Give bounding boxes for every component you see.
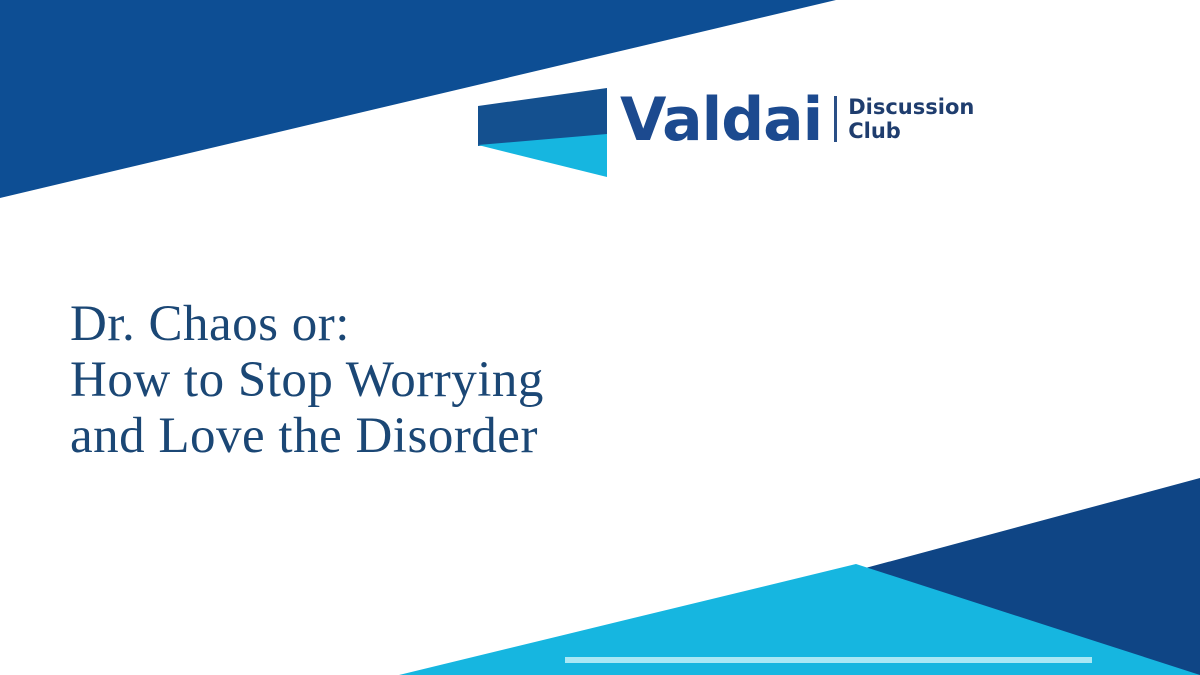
title-line-2: How to Stop Worrying <box>70 352 890 408</box>
logo-subtitle-line-2: Club <box>848 119 901 143</box>
title-line-3: and Love the Disorder <box>70 408 890 464</box>
bottom-accent-rule <box>565 657 1092 663</box>
valdai-logo[interactable]: Valdai Discussion Club <box>478 84 974 184</box>
valdai-chevron-mark-icon <box>478 84 616 180</box>
bottom-right-navy-wedge <box>468 478 1200 675</box>
presentation-slide: Valdai Discussion Club Dr. Chaos or: How… <box>0 0 1200 675</box>
valdai-wordmark: Valdai Discussion Club <box>620 84 974 164</box>
logo-subtitle: Discussion Club <box>848 95 974 143</box>
logo-subtitle-line-1: Discussion <box>848 95 974 119</box>
title-line-1: Dr. Chaos or: <box>70 296 890 352</box>
logo-divider-bar <box>834 96 837 142</box>
valdai-wordmark-text: Valdai <box>620 90 822 150</box>
page-title: Dr. Chaos or: How to Stop Worrying and L… <box>70 296 890 464</box>
